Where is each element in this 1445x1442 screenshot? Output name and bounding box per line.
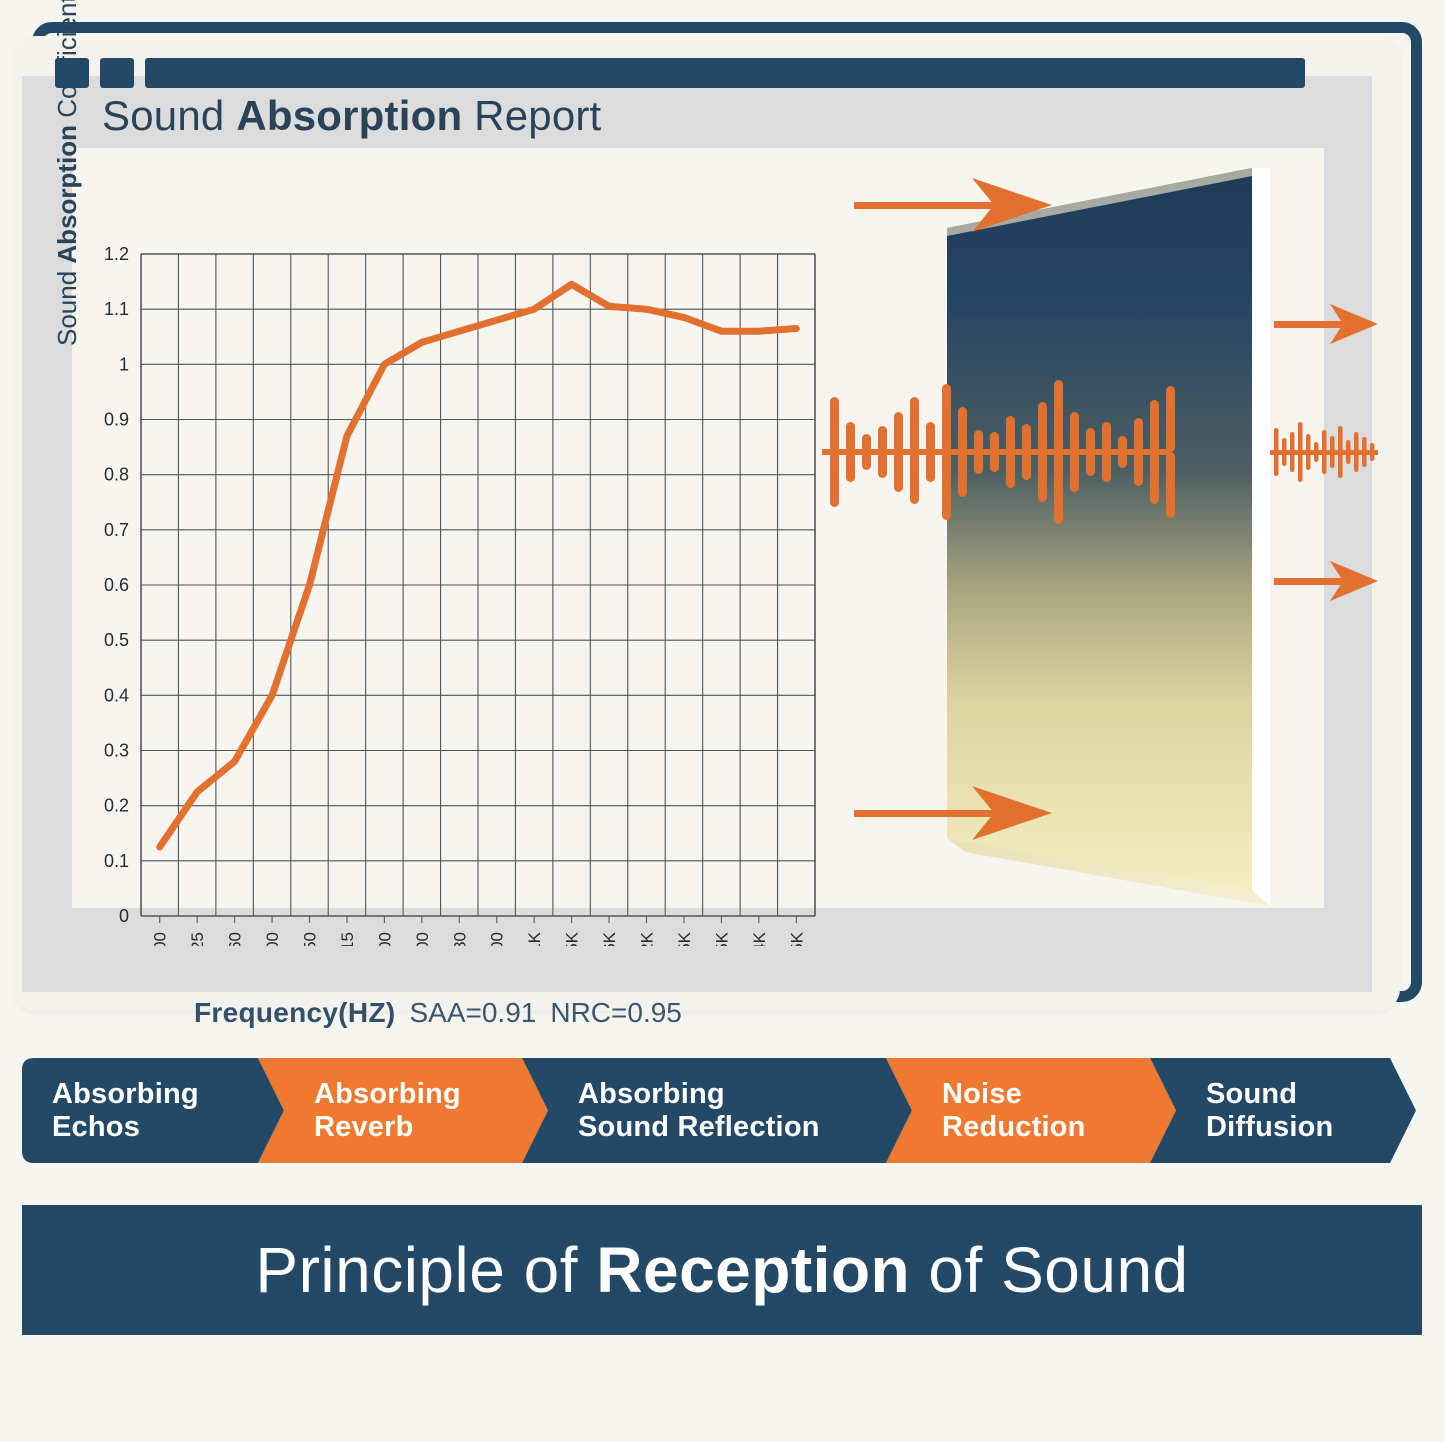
waveform-bar <box>1086 452 1095 476</box>
waveform-bar <box>1362 452 1367 467</box>
waveform-bar <box>1054 380 1063 452</box>
waveform-bar <box>1330 436 1335 452</box>
waveform-bar <box>974 430 983 452</box>
illustration-svg <box>822 166 1382 926</box>
waveform-bar <box>1338 452 1343 478</box>
feature-chip-2[interactable]: Absorbing Reverb <box>258 1058 548 1163</box>
banner-title: Principle of Reception of Sound <box>255 1233 1188 1307</box>
waveform-bar <box>1006 452 1015 488</box>
x-tick-label: 200 <box>263 932 282 946</box>
waveform-bar <box>1282 438 1287 452</box>
feature-chip-row: Absorbing EchosAbsorbing ReverbAbsorbing… <box>22 1058 1422 1163</box>
waveform-bar <box>1102 452 1111 482</box>
waveform-bar <box>1290 452 1295 472</box>
waveform-bar <box>1150 400 1159 452</box>
x-tick-label: 3.15K <box>712 931 731 946</box>
waveform-bar <box>1298 422 1303 452</box>
titlebar-square-icon-1 <box>55 58 89 88</box>
outgoing-arrow-top-icon <box>1274 304 1378 344</box>
waveform-bar <box>1134 452 1143 486</box>
waveform-bar <box>1362 437 1367 452</box>
y-tick-label: 0.8 <box>104 465 129 485</box>
x-tick-label: 1K <box>525 931 544 946</box>
x-axis-ticks: 1001251602002503154005006308001K1.25K1.6… <box>151 916 807 946</box>
chart-footer: Frequency(HZ)SAA=0.91NRC=0.95 <box>194 997 682 1029</box>
waveform-bar <box>1322 430 1327 452</box>
x-tick-label: 800 <box>488 932 507 946</box>
x-tick-label: 160 <box>226 932 245 946</box>
waveform-bar <box>1274 452 1279 476</box>
waveform-bar <box>1298 452 1303 482</box>
waveform-bar <box>1022 452 1031 480</box>
waveform-bar <box>1070 452 1079 492</box>
waveform-bar <box>1118 436 1127 452</box>
x-tick-label: 500 <box>413 932 432 946</box>
waveform-bar <box>1166 386 1175 452</box>
waveform-bar <box>1314 452 1319 462</box>
y-tick-label: 0.2 <box>104 796 129 816</box>
waveform-bar <box>990 432 999 452</box>
y-axis-ticks: 00.10.20.30.40.50.60.70.80.911.11.2 <box>104 244 129 926</box>
waveform-bar <box>1370 443 1375 452</box>
x-tick-label: 1.6K <box>600 931 619 946</box>
waveform-bar <box>1150 452 1159 504</box>
waveform-bar <box>1354 452 1359 472</box>
x-tick-label: 1.25K <box>563 931 582 946</box>
waveform-bar <box>878 426 887 452</box>
waveform-bar <box>958 407 967 452</box>
waveform-bar <box>1274 428 1279 452</box>
waveform-bar <box>1166 452 1175 518</box>
title-bar <box>55 58 1305 88</box>
waveform-bar <box>910 397 919 452</box>
waveform-bar <box>1134 418 1143 452</box>
banner-prefix: Principle of <box>255 1234 596 1306</box>
titlebar-bar <box>145 58 1305 88</box>
waveform-bar <box>894 412 903 452</box>
y-tick-label: 0.3 <box>104 741 129 761</box>
waveform-bar <box>1314 442 1319 452</box>
y-tick-label: 0 <box>119 906 129 926</box>
waveform-bar <box>830 452 839 507</box>
y-tick-label: 1.1 <box>104 299 129 319</box>
feature-chip-4[interactable]: Noise Reduction <box>886 1058 1176 1163</box>
waveform-bar <box>926 422 935 452</box>
waveform-bar <box>990 452 999 472</box>
absorption-chart: 00.10.20.30.40.50.60.70.80.911.11.2 1001… <box>22 156 852 946</box>
waveform-outgoing <box>1270 422 1378 482</box>
waveform-bar <box>1070 412 1079 452</box>
waveform-bar <box>862 434 871 452</box>
x-tick-label: 315 <box>338 932 357 946</box>
feature-chip-label: Absorbing Sound Reflection <box>578 1078 820 1143</box>
page-title-suffix: Report <box>462 92 601 139</box>
x-tick-label: 5K <box>787 931 806 946</box>
feature-chip-5[interactable]: Sound Diffusion <box>1150 1058 1416 1163</box>
waveform-bar <box>1086 428 1095 452</box>
waveform-bar <box>1038 452 1047 502</box>
page-title: Sound Absorption Report <box>102 92 601 140</box>
feature-chip-label: Absorbing Echos <box>52 1078 199 1143</box>
wave-texture-strip <box>22 1335 1422 1438</box>
x-tick-label: 250 <box>301 932 320 946</box>
waveform-bar <box>1102 422 1111 452</box>
panel-edge-right <box>1252 168 1270 906</box>
chart-gridlines <box>141 254 815 916</box>
y-tick-label: 0.4 <box>104 685 129 705</box>
y-tick-label: 0.5 <box>104 630 129 650</box>
page-title-prefix: Sound <box>102 92 236 139</box>
y-tick-label: 0.7 <box>104 520 129 540</box>
bottom-banner: Principle of Reception of Sound <box>22 1205 1422 1335</box>
waveform-bar <box>862 452 871 470</box>
report-panel: Sound Absorption Report Sound Absorption… <box>22 76 1372 992</box>
waveform-bar <box>1370 452 1375 461</box>
waveform-bar <box>830 397 839 452</box>
x-tick-label: 4K <box>750 931 769 946</box>
waveform-bar <box>942 452 951 520</box>
x-tick-label: 125 <box>188 932 207 946</box>
waveform-bar <box>942 384 951 452</box>
waveform-bar <box>1118 452 1127 468</box>
outgoing-arrow-bottom-icon <box>1274 561 1378 601</box>
waveform-bar <box>1006 416 1015 452</box>
y-tick-label: 1 <box>119 354 129 374</box>
x-axis-title: Frequency(HZ) <box>194 997 395 1028</box>
panel-illustration <box>822 166 1382 926</box>
waveform-bar <box>1306 452 1311 470</box>
nrc-value: NRC=0.95 <box>550 997 682 1028</box>
waveform-bar <box>910 452 919 504</box>
waveform-bar <box>1346 452 1351 464</box>
waveform-bar <box>1338 426 1343 452</box>
x-tick-label: 2K <box>638 931 657 946</box>
y-tick-label: 1.2 <box>104 244 129 264</box>
waveform-bar <box>878 452 887 478</box>
waveform-bar <box>1054 452 1063 524</box>
waveform-bar <box>1038 402 1047 452</box>
x-tick-label: 100 <box>151 932 170 946</box>
saa-value: SAA=0.91 <box>409 997 536 1028</box>
waveform-bar <box>846 422 855 452</box>
waveform-bar <box>1306 434 1311 452</box>
waveform-bar <box>1290 432 1295 452</box>
feature-chip-label: Absorbing Reverb <box>314 1078 461 1143</box>
waveform-bar <box>894 452 903 492</box>
banner-bold: Reception <box>596 1234 910 1306</box>
x-tick-label: 400 <box>375 932 394 946</box>
waveform-bar <box>1354 432 1359 452</box>
x-tick-label: 630 <box>450 932 469 946</box>
waveform-bar <box>958 452 967 497</box>
waveform-bar <box>1282 452 1287 466</box>
feature-chip-label: Noise Reduction <box>942 1078 1086 1143</box>
page-title-bold: Absorption <box>236 92 462 139</box>
titlebar-square-icon-2 <box>100 58 134 88</box>
x-tick-label: 2.5K <box>675 931 694 946</box>
waveform-bar <box>1022 424 1031 452</box>
feature-chip-label: Sound Diffusion <box>1206 1078 1333 1143</box>
waveform-bar <box>974 452 983 474</box>
chart-svg: 00.10.20.30.40.50.60.70.80.911.11.2 1001… <box>22 156 852 946</box>
y-tick-label: 0.1 <box>104 851 129 871</box>
waveform-bar <box>846 452 855 482</box>
waveform-bar <box>1346 440 1351 452</box>
panel-face <box>947 168 1252 890</box>
waveform-bar <box>1330 452 1335 468</box>
waveform-bar <box>1322 452 1327 474</box>
feature-chip-1[interactable]: Absorbing Echos <box>22 1058 284 1163</box>
waveform-bar <box>926 452 935 482</box>
feature-chip-3[interactable]: Absorbing Sound Reflection <box>522 1058 912 1163</box>
y-tick-label: 0.6 <box>104 575 129 595</box>
y-tick-label: 0.9 <box>104 410 129 430</box>
banner-suffix: of Sound <box>910 1234 1189 1306</box>
